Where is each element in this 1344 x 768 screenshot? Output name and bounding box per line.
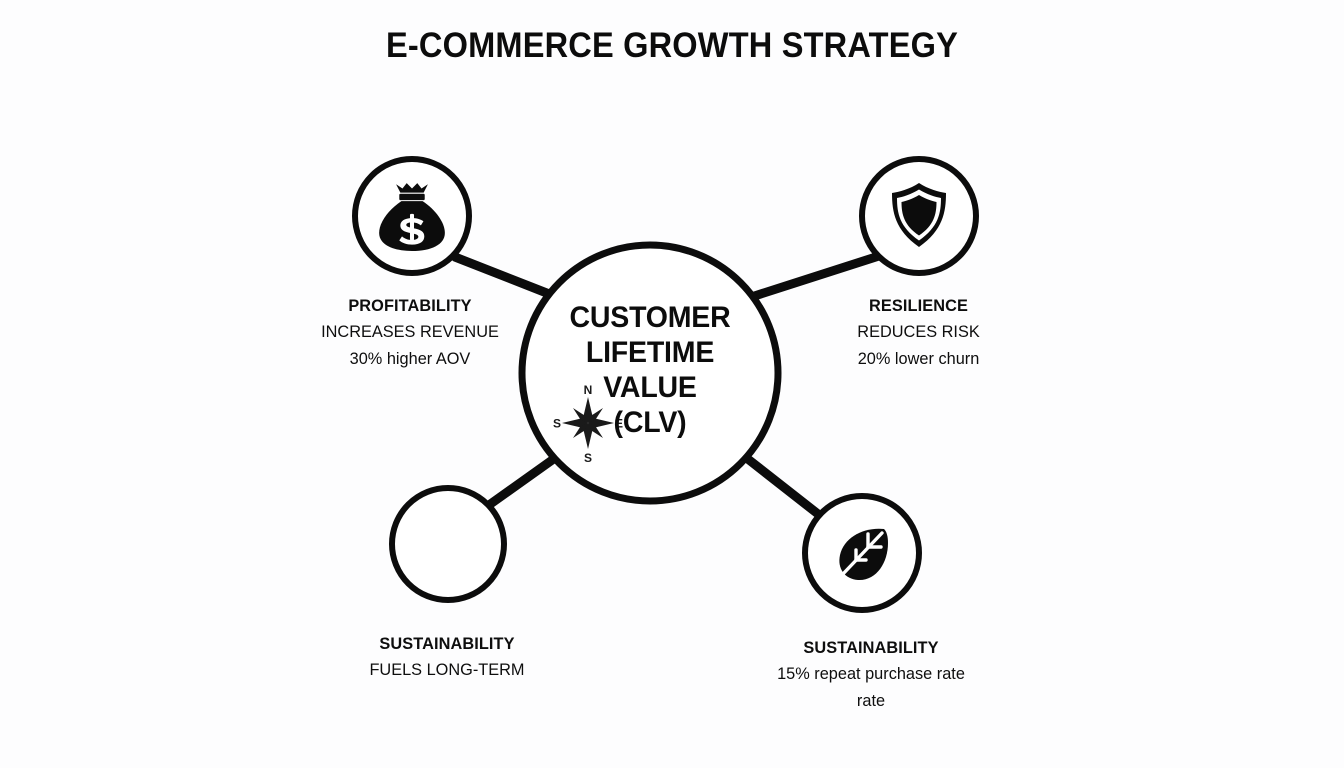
hub-label-line-2: LIFETIME	[528, 335, 771, 370]
connector-hub-to-sustainability-right	[744, 456, 818, 514]
diagram-stage: N S E S E-COMMERCE GROWTH STRATEGY CUSTO…	[0, 0, 1344, 768]
node-sustainability-right-label: SUSTAINABILITY 15% repeat purchase rate …	[736, 636, 1006, 714]
node-sustainability-right-title: SUSTAINABILITY	[741, 636, 1000, 660]
node-resilience-label: RESILIENCE REDUCES RISK 20% lower churn	[797, 294, 1040, 372]
node-sustainability-right-metric: rate	[741, 687, 1000, 714]
node-sustainability-right[interactable]	[805, 496, 919, 610]
hub-label-line-4: (CLV)	[528, 405, 771, 440]
node-sustainability-left-subtitle: FUELS LONG-TERM	[327, 656, 567, 683]
node-sustainability-left-title: SUSTAINABILITY	[327, 632, 567, 656]
node-resilience[interactable]	[862, 159, 976, 273]
node-sustainability-left-label: SUSTAINABILITY FUELS LONG-TERM	[322, 632, 572, 683]
node-profitability-metric: 30% higher AOV	[290, 345, 530, 372]
compass-label-south: S	[584, 451, 592, 465]
hub-label-line-1: CUSTOMER	[528, 300, 771, 335]
node-sustainability-right-subtitle: 15% repeat purchase rate	[741, 660, 1000, 687]
node-profitability-subtitle: INCREASES REVENUE	[290, 318, 530, 345]
page-title: E-COMMERCE GROWTH STRATEGY	[47, 26, 1297, 66]
node-profitability[interactable]	[355, 159, 469, 273]
node-sustainability-left-circle[interactable]	[392, 488, 504, 600]
node-profitability-label: PROFITABILITY INCREASES REVENUE 30% high…	[285, 294, 535, 372]
node-resilience-subtitle: REDUCES RISK	[802, 318, 1035, 345]
connector-hub-to-sustainability-left	[489, 453, 562, 505]
node-profitability-title: PROFITABILITY	[290, 294, 530, 318]
node-resilience-metric: 20% lower churn	[802, 345, 1035, 372]
hub-label: CUSTOMER LIFETIME VALUE (CLV)	[528, 300, 771, 440]
hub-label-line-3: VALUE	[528, 370, 771, 405]
diagram-canvas: N S E S E-COMMERCE GROWTH STRATEGY CUSTO…	[0, 0, 1344, 768]
node-sustainability-left[interactable]	[392, 488, 504, 600]
node-resilience-title: RESILIENCE	[802, 294, 1035, 318]
